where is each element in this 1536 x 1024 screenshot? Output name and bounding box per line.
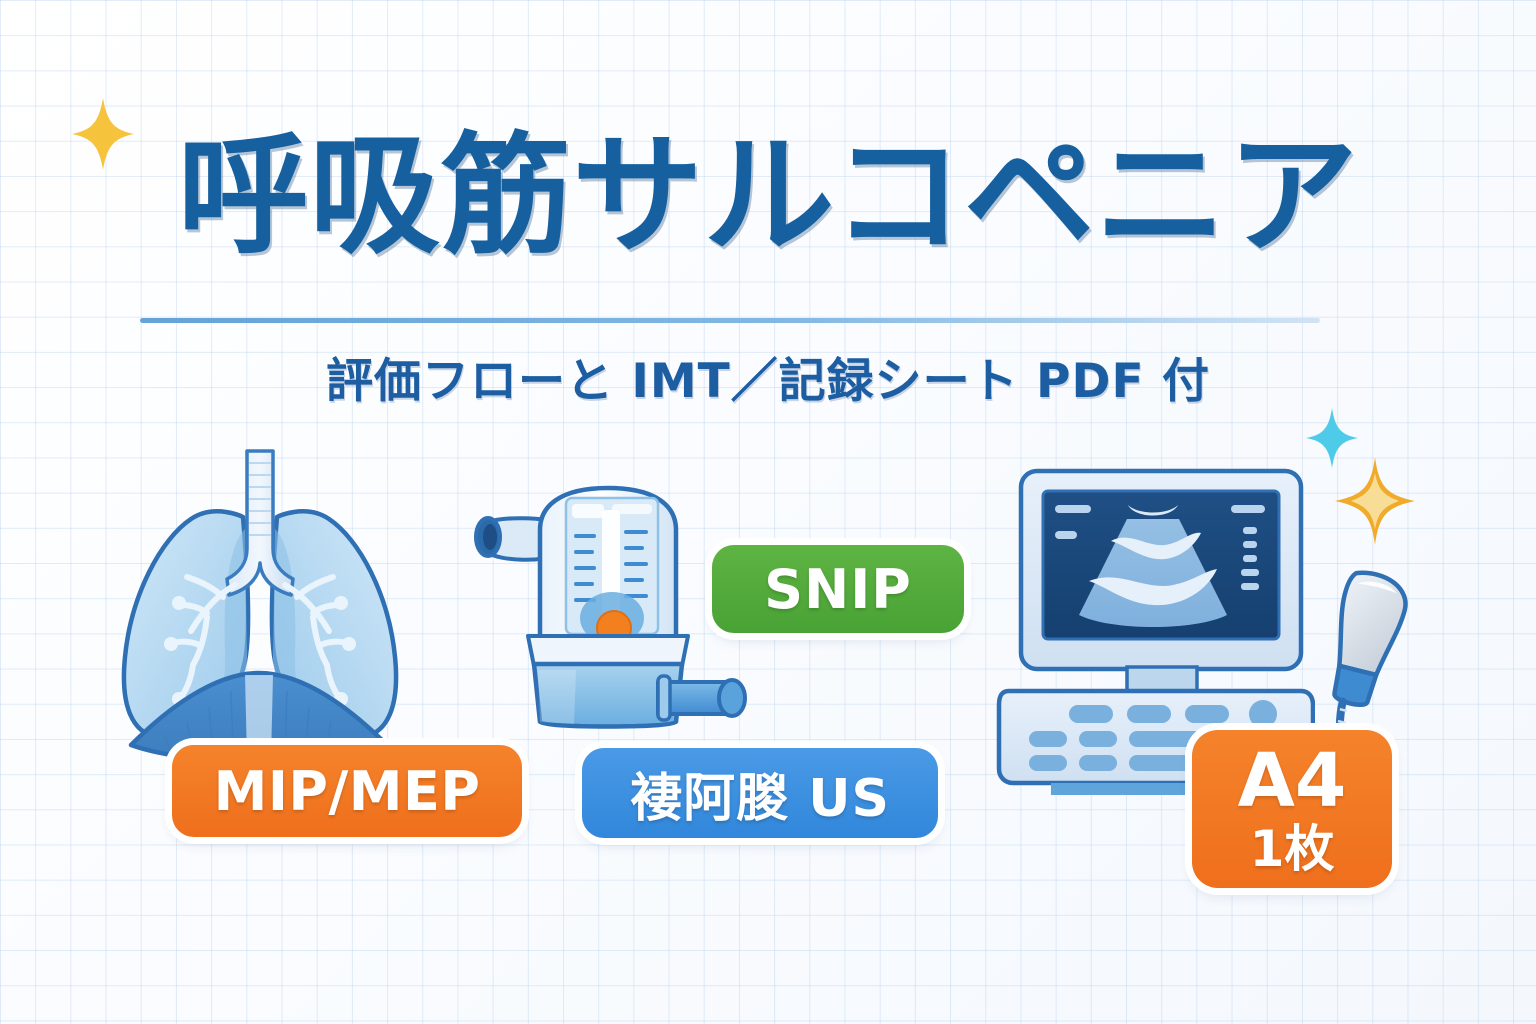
badge-a4[interactable]: A4 1枚 (1192, 730, 1392, 888)
page-title-wrap: 呼吸筋サルコペニア (0, 128, 1536, 264)
poster-canvas: 呼吸筋サルコペニア 評価フローと IMT／記録シート PDF 付 (0, 0, 1536, 1024)
sparkle-gold-right-icon (1335, 457, 1415, 545)
badge-mip-mep[interactable]: MIP/MEP (172, 745, 522, 837)
lungs-diaphragm-illustration (95, 445, 425, 770)
badge-mip-mep-label: MIP/MEP (214, 760, 481, 823)
badge-snip-label: SNIP (764, 558, 912, 621)
title-divider (140, 318, 1320, 323)
badge-snip[interactable]: SNIP (712, 545, 964, 633)
page-subtitle: 評価フローと IMT／記録シート PDF 付 (0, 342, 1536, 411)
badge-a4-main-label: A4 (1238, 744, 1347, 818)
badge-diaphragm-us[interactable]: 褄阿朡 US (582, 748, 938, 838)
badge-diaphragm-us-label: 褄阿朡 US (630, 756, 890, 831)
page-title: 呼吸筋サルコペニア (0, 128, 1536, 264)
badge-a4-sub-label: 1枚 (1250, 824, 1335, 874)
